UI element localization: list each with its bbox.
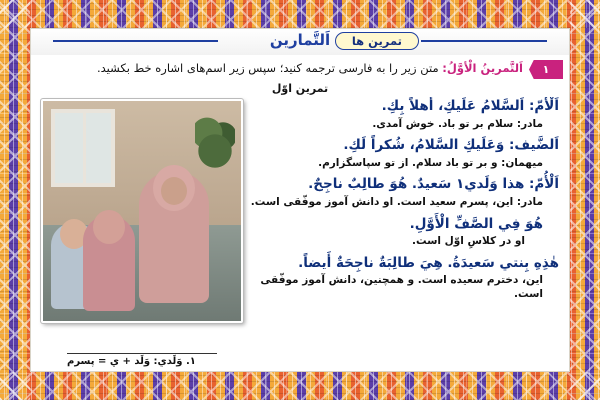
dialogue-speaker-persian: مادر: [517, 118, 543, 130]
dialogue-text-persian: سلام بر تو باد. خوش آمدی. [372, 118, 513, 130]
dialogue-line-persian: مادر: سلام بر تو باد. خوش آمدی. [247, 118, 559, 132]
border-motif-top [0, 0, 600, 28]
dialogue-line-persian: او در کلاسِ اوّل است. [247, 235, 559, 249]
photo-plant [195, 115, 235, 175]
dialogue-speaker-arabic: اَلْأُمّ: [529, 98, 559, 114]
dialogue-speaker-persian: میهمان: [501, 157, 543, 169]
photo-window [51, 109, 115, 187]
dialogue-line-arabic: هٰذِهِ بِنتي سَعیدَةُ. هِيَ طالِبَةٌ ناج… [247, 254, 559, 274]
border-motif-right [570, 0, 600, 400]
photo-girl [83, 215, 135, 311]
dialogue-text-persian: این، پسرم سعید است. او دانش آموز موفّقی … [251, 196, 514, 208]
page-header: اَلتَّمارین تمرین ها [31, 29, 569, 59]
dialogue-line-persian: مادر: این، پسرم سعید است. او دانش آموز م… [247, 196, 559, 210]
exercise-prompt-text: متن زیر را به فارسی ترجمه کنید؛ سپس زیر … [97, 61, 442, 75]
dialogue-column: اَلْأُمّ: اَلسَّلامُ عَلَیكِ، أَهلاً بِك… [247, 97, 561, 307]
dialogue-text-arabic: اَلسَّلامُ عَلَیكِ، أَهلاً بِكِ. [382, 98, 525, 114]
dialogue-text-arabic: وَعَلَیكِ السَّلامُ، شُكراً لَكِ. [343, 137, 504, 153]
lesson-body: اَلْأُمّ: اَلسَّلامُ عَلَیكِ، أَهلاً بِك… [31, 95, 569, 307]
header-rule-left [53, 40, 218, 42]
exercise-header: ۱ اَلتَّمرینُ الْأوَّلُ: متن زیر را به ف… [31, 60, 569, 82]
dialogue-line-persian: این، دخترم سعیده است. و همچنین، دانش آمو… [247, 274, 559, 301]
dialogue-speaker-arabic: اَلْأُمّ: [529, 176, 559, 192]
dialogue-line-arabic: اَلْأُمّ: اَلسَّلامُ عَلَیكِ، أَهلاً بِك… [247, 97, 559, 117]
page: اَلتَّمارین تمرین ها ۱ اَلتَّمرینُ الْأو… [0, 0, 600, 400]
photo-mother [139, 171, 209, 303]
exercise-prompt-label: اَلتَّمرینُ الْأوَّلُ: [442, 61, 523, 75]
dialogue-speaker-persian: مادر: [517, 196, 543, 208]
dialogue-line-arabic: اَلْأُمّ: هذا وَلَدي١ سَعیدٌ. هُوَ طالِب… [247, 175, 559, 195]
dialogue-text-persian: او در کلاسِ اوّل است. [412, 235, 525, 247]
header-tab: تمرین ها [335, 32, 419, 50]
dialogue-line-arabic: اَلضَّیف: وَعَلَیكِ السَّلامُ، شُكراً لَ… [247, 136, 559, 156]
footnote-area: ١. وَلَدي: وَلَد + ي = پسرم [41, 353, 559, 367]
dialogue-text-arabic: هذا وَلَدي١ سَعیدٌ. هُوَ طالِبٌ ناجِحٌ. [308, 176, 524, 192]
exercise-prompt: اَلتَّمرینُ الْأوَّلُ: متن زیر را به فار… [97, 61, 523, 75]
header-rule-right [421, 40, 547, 42]
dialogue-text-arabic: هُوَ فِي الصَّفِّ الْأَوَّلِ. [410, 216, 543, 232]
family-photo [41, 99, 243, 323]
border-motif-left [0, 0, 30, 400]
page-content: اَلتَّمارین تمرین ها ۱ اَلتَّمرینُ الْأو… [30, 28, 570, 372]
dialogue-line-arabic: هُوَ فِي الصَّفِّ الْأَوَّلِ. [247, 215, 559, 235]
exercise-subtitle: تمرین اوّل [31, 82, 569, 95]
dialogue-text-persian: و بر تو باد سلام. از تو سپاسگزارم. [318, 157, 497, 169]
footnote-text: ١. وَلَدي: وَلَد + ي = پسرم [41, 356, 559, 367]
dialogue-text-persian: این، دخترم سعیده است. و همچنین، دانش آمو… [260, 274, 543, 300]
footnote-rule [67, 353, 217, 354]
exercise-number-badge: ۱ [529, 60, 563, 79]
border-motif-bottom [0, 372, 600, 400]
page-title: اَلتَّمارین [270, 31, 330, 49]
dialogue-text-arabic: هٰذِهِ بِنتي سَعیدَةُ. هِيَ طالِبَةٌ ناج… [298, 255, 559, 271]
dialogue-line-persian: میهمان: و بر تو باد سلام. از تو سپاسگزار… [247, 157, 559, 171]
dialogue-speaker-arabic: اَلضَّیف: [509, 137, 559, 153]
